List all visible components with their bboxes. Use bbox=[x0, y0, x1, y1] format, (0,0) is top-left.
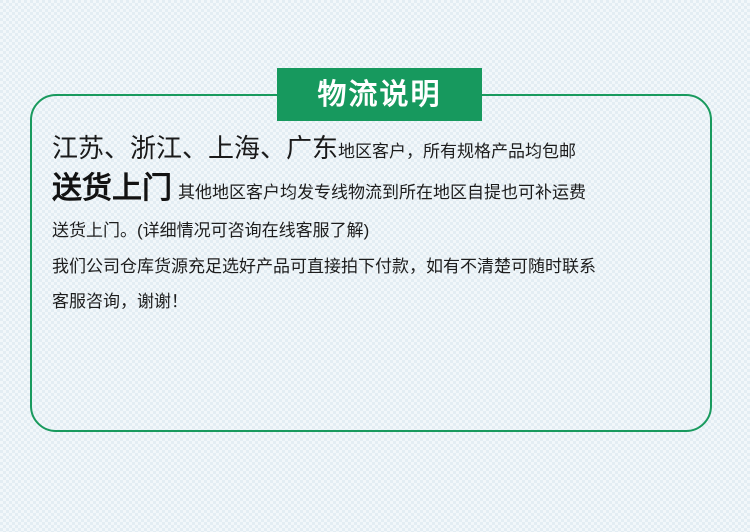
shipping-regions-line: 江苏、浙江、上海、广东地区客户，所有规格产品均包邮 bbox=[52, 132, 692, 165]
section-title-badge: 物流说明 bbox=[277, 68, 482, 121]
door-delivery-heading: 送货上门 bbox=[52, 171, 172, 206]
stock-availability-line: 我们公司仓库货源充足选好产品可直接拍下付款，如有不清楚可随时联系 bbox=[52, 249, 692, 285]
logistics-text-block: 江苏、浙江、上海、广东地区客户，所有规格产品均包邮 送货上门其他地区客户均发专线… bbox=[52, 132, 692, 320]
thanks-line: 客服咨询，谢谢！ bbox=[52, 284, 692, 320]
free-shipping-regions: 江苏、浙江、上海、广东 bbox=[52, 133, 338, 163]
door-delivery-line: 送货上门其他地区客户均发专线物流到所在地区自提也可补运费 bbox=[52, 171, 692, 208]
other-regions-note: 其他地区客户均发专线物流到所在地区自提也可补运费 bbox=[172, 183, 586, 202]
logistics-info-card: 物流说明 江苏、浙江、上海、广东地区客户，所有规格产品均包邮 送货上门其他地区客… bbox=[0, 0, 750, 532]
section-title-text: 物流说明 bbox=[317, 80, 441, 109]
customer-service-note-line: 送货上门。(详细情况可咨询在线客服了解) bbox=[52, 213, 692, 249]
free-shipping-note: 地区客户，所有规格产品均包邮 bbox=[338, 142, 576, 161]
